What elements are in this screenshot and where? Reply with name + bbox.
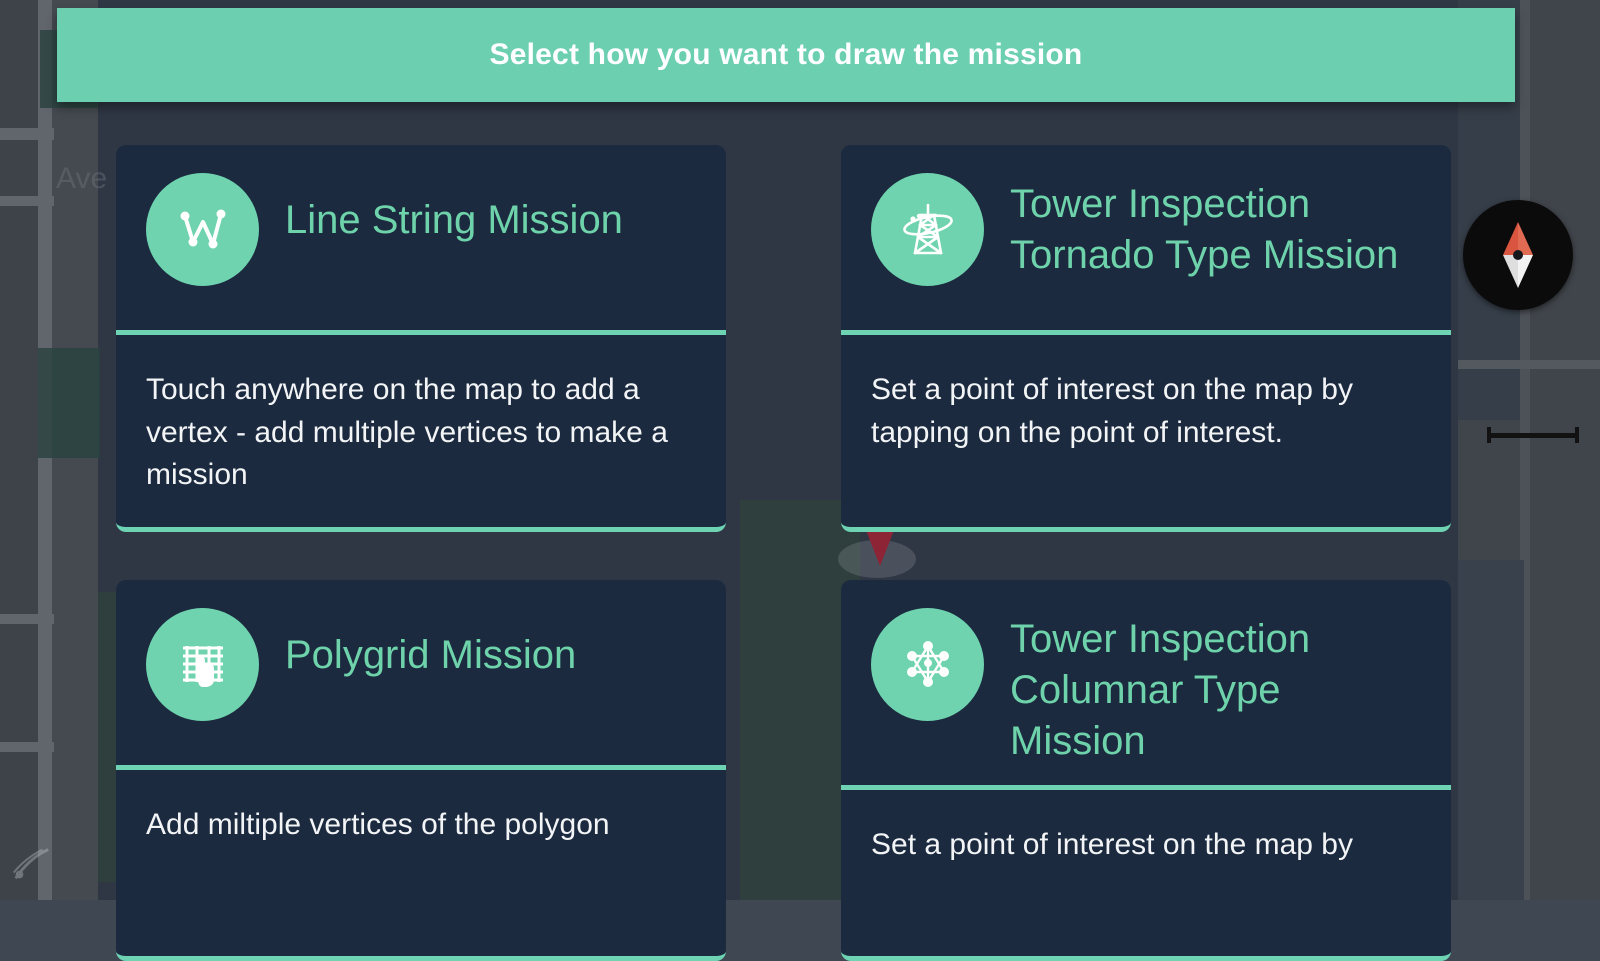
polyline-vertices-icon: [146, 173, 259, 286]
card-description: Set a point of interest on the map by: [871, 824, 1423, 867]
card-title: Tower Inspection Columnar Type Mission: [1010, 608, 1427, 768]
card-body: Set a point of interest on the map by ta…: [841, 335, 1451, 501]
card-title: Polygrid Mission: [285, 608, 576, 681]
map-scale-bar: [1487, 427, 1579, 443]
card-header: Tower Inspection Tornado Type Mission: [841, 145, 1451, 330]
card-description: Add miltiple vertices of the polygon: [146, 804, 698, 847]
mission-card-line-string[interactable]: Line String Mission Touch anywhere on th…: [116, 145, 726, 532]
node-hub-cluster-icon: [871, 608, 984, 721]
card-description: Touch anywhere on the map to add a verte…: [146, 369, 698, 497]
mission-card-polygrid[interactable]: Polygrid Mission Add miltiple vertices o…: [116, 580, 726, 961]
mission-type-card-grid: Line String Mission Touch anywhere on th…: [116, 145, 1451, 961]
card-header: Line String Mission: [116, 145, 726, 330]
card-title: Tower Inspection Tornado Type Mission: [1010, 173, 1427, 281]
map-attribution-logo-icon: [8, 840, 54, 886]
mission-card-tower-inspection-tornado[interactable]: Tower Inspection Tornado Type Mission Se…: [841, 145, 1451, 532]
compass-needle-icon: [1463, 200, 1573, 310]
sheet-header-title: Select how you want to draw the mission: [490, 38, 1083, 72]
transmission-tower-orbit-icon: [871, 173, 984, 286]
grid-pointing-hand-icon: [146, 608, 259, 721]
card-header: Tower Inspection Columnar Type Mission: [841, 580, 1451, 786]
mission-card-tower-inspection-columnar[interactable]: Tower Inspection Columnar Type Mission S…: [841, 580, 1451, 961]
card-body: Set a point of interest on the map by: [841, 790, 1451, 956]
card-header: Polygrid Mission: [116, 580, 726, 765]
card-description: Set a point of interest on the map by ta…: [871, 369, 1423, 454]
card-title: Line String Mission: [285, 173, 623, 246]
card-body: Touch anywhere on the map to add a verte…: [116, 335, 726, 527]
card-body: Add miltiple vertices of the polygon: [116, 770, 726, 936]
compass-widget[interactable]: [1463, 200, 1573, 310]
sheet-header: Select how you want to draw the mission: [57, 8, 1515, 102]
